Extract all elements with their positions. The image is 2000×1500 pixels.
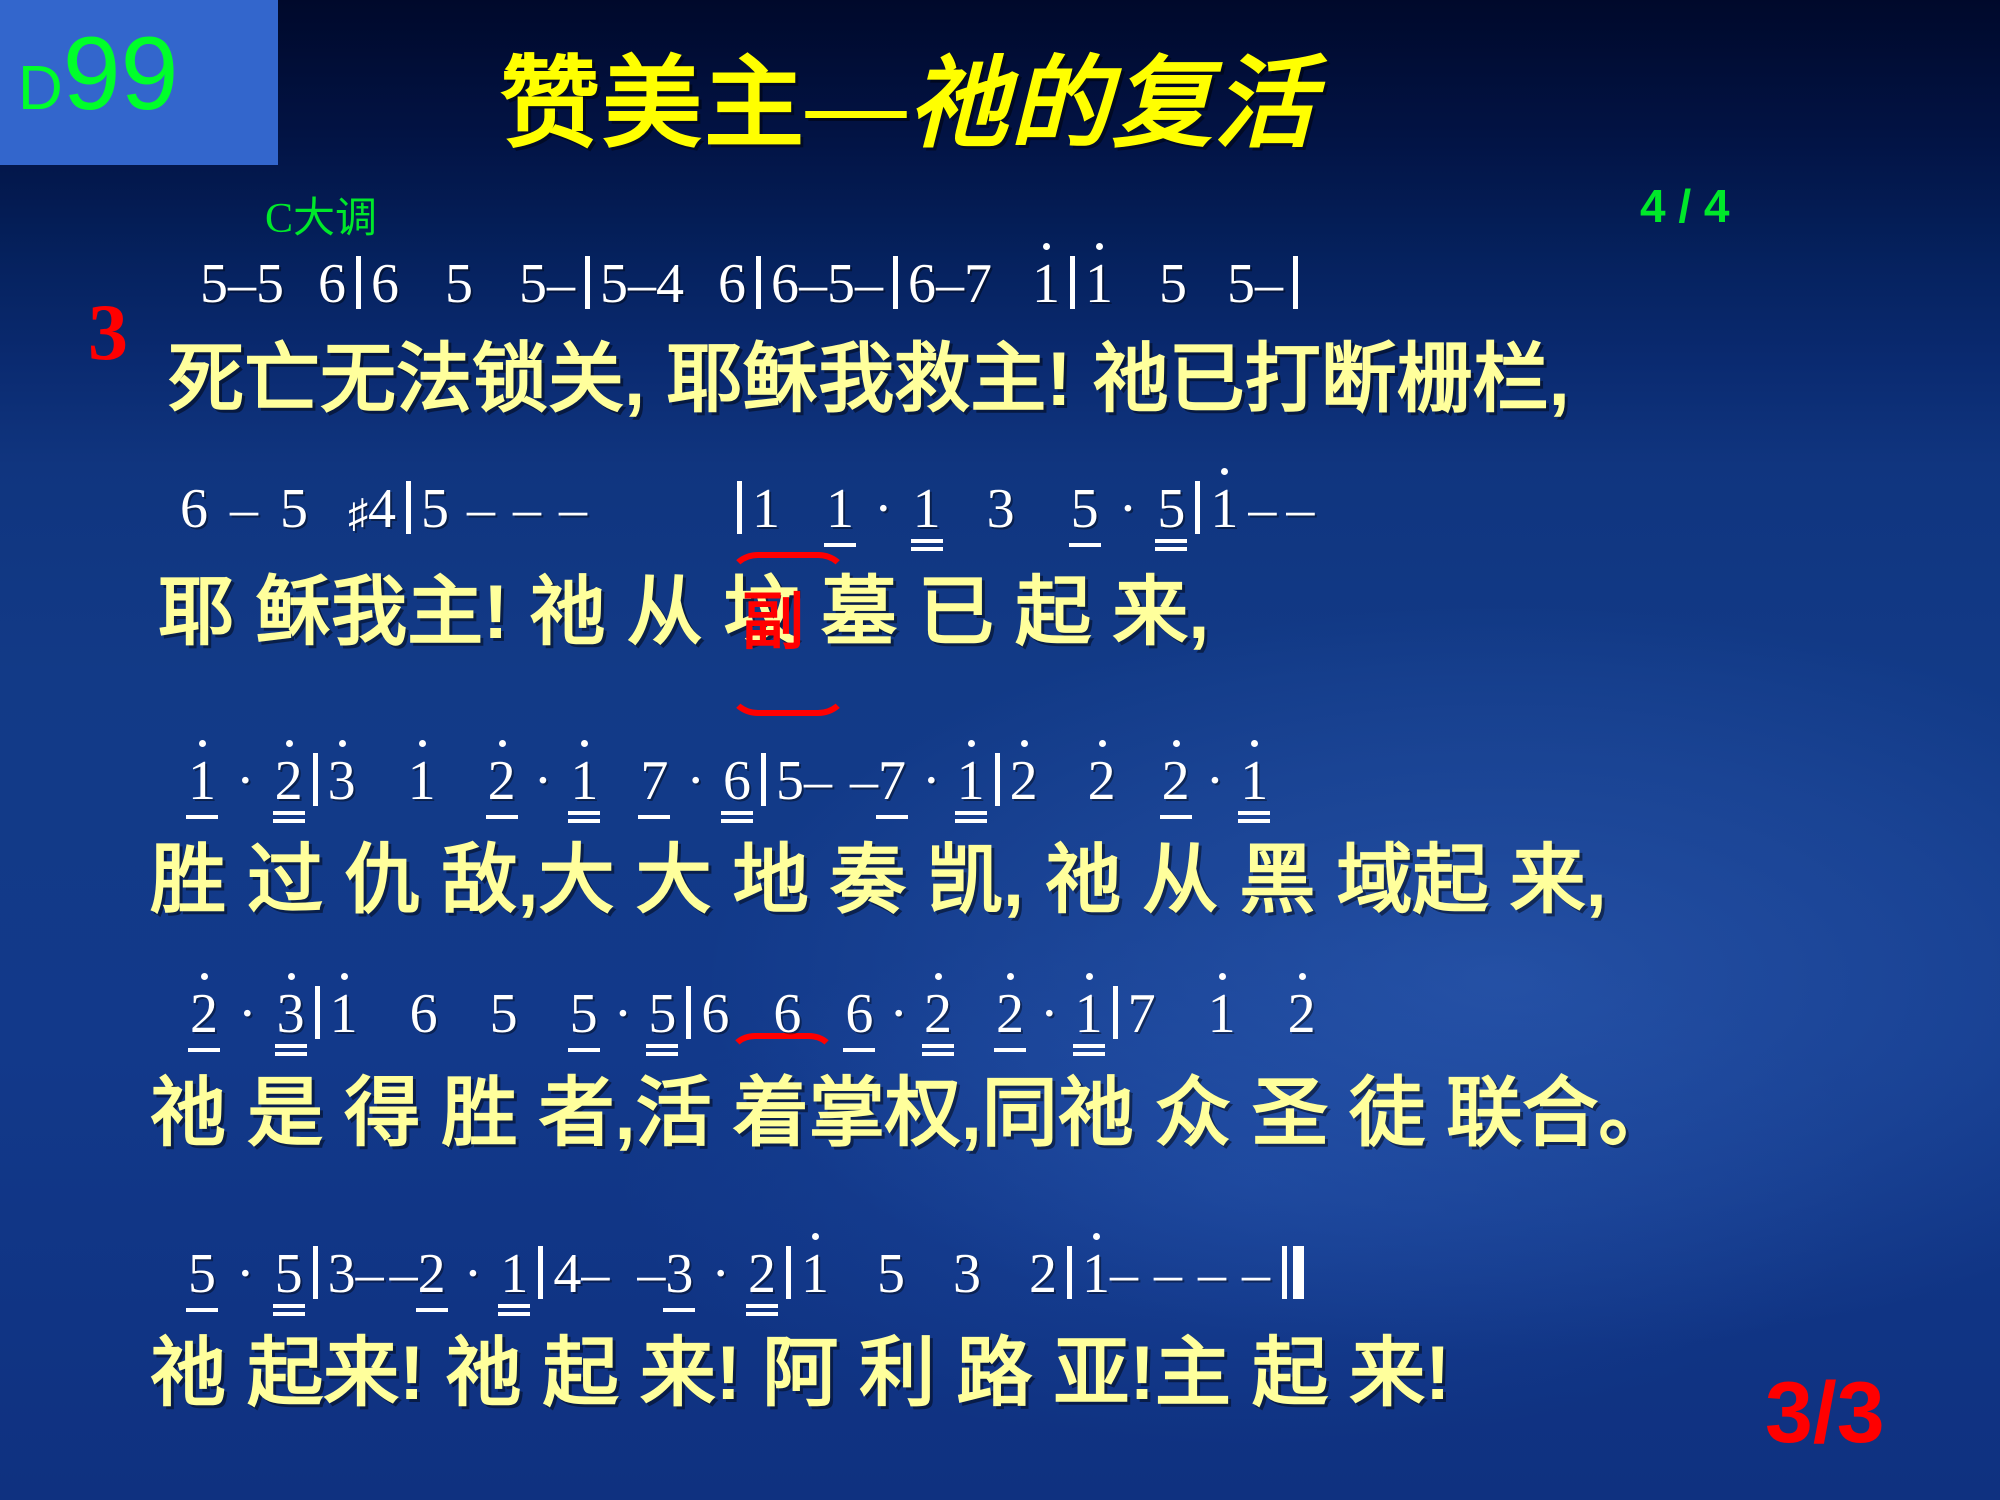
lyric-line-5: 祂 起来! 祂 起 来! 阿 利 路 亚!主 起 来! — [0, 1304, 2000, 1414]
lyric-line-3: 胜 过 仇 敌,大 大 地 奏 凯, 祂 从 黑 域起 来, — [0, 811, 2000, 921]
hymn-code-badge: D99 — [0, 0, 278, 165]
music-system-3: 1·2312·17·65––7·1222·1 胜 过 仇 敌,大 大 地 奏 凯… — [0, 752, 2000, 921]
chorus-marker: 副 — [718, 560, 848, 700]
page-title: 赞美主—祂的复活 — [500, 55, 1316, 155]
slide-canvas: D99 赞美主—祂的复活 C大调 4 / 4 5–56655–5–466–5–6… — [0, 0, 2000, 1500]
chorus-arc-bottom-icon — [728, 664, 848, 716]
notation-line-4: 2·31655·5666·22·1712 — [0, 985, 2000, 1044]
key-signature-label: C大调 — [265, 198, 377, 240]
notation-line-3: 1·2312·17·65––7·1222·1 — [0, 752, 2000, 811]
music-system-2: 6–5♯45–––11·135·51–– 耶 稣我主! 祂 从 坟 墓 已 起 … — [0, 480, 2000, 653]
page-title-main: 赞美主— — [500, 49, 908, 160]
lyric-line-1: 死亡无法锁关, 耶稣我救主! 祂已打断栅栏, — [0, 314, 2000, 420]
notation-line-1: 5–56655–5–466–5–6–71155– — [0, 255, 2000, 314]
music-system-5: 5·53––2·14––3·215321–––– 祂 起来! 祂 起 来! 阿 … — [0, 1245, 2000, 1414]
music-system-1: 5–56655–5–466–5–6–71155– 3 死亡无法锁关, 耶稣我救主… — [0, 255, 2000, 420]
lyric-line-4: 祂 是 得 胜 者,活 着掌权,同祂 众 圣 徒 联合。 — [0, 1044, 2000, 1154]
notation-line-5: 5·53––2·14––3·215321–––– — [0, 1245, 2000, 1304]
page-title-subject: 祂的复活 — [908, 49, 1316, 160]
lyric-line-2: 耶 稣我主! 祂 从 坟 墓 已 起 来, — [0, 539, 2000, 653]
time-signature-label: 4 / 4 — [1640, 183, 1730, 229]
page-number: 3/3 — [1765, 1370, 1885, 1456]
final-barline-icon — [1282, 1246, 1304, 1299]
chorus-marker-label: 副 — [742, 592, 804, 654]
notation-line-2: 6–5♯45–––11·135·51–– — [0, 480, 2000, 539]
hymn-code-number: 99 — [63, 16, 179, 132]
music-system-4: 2·31655·5666·22·1712 祂 是 得 胜 者,活 着掌权,同祂 … — [0, 985, 2000, 1154]
verse-number: 3 — [88, 293, 128, 373]
hymn-code-prefix: D — [18, 54, 63, 123]
hymn-code-text: D99 — [18, 22, 178, 126]
